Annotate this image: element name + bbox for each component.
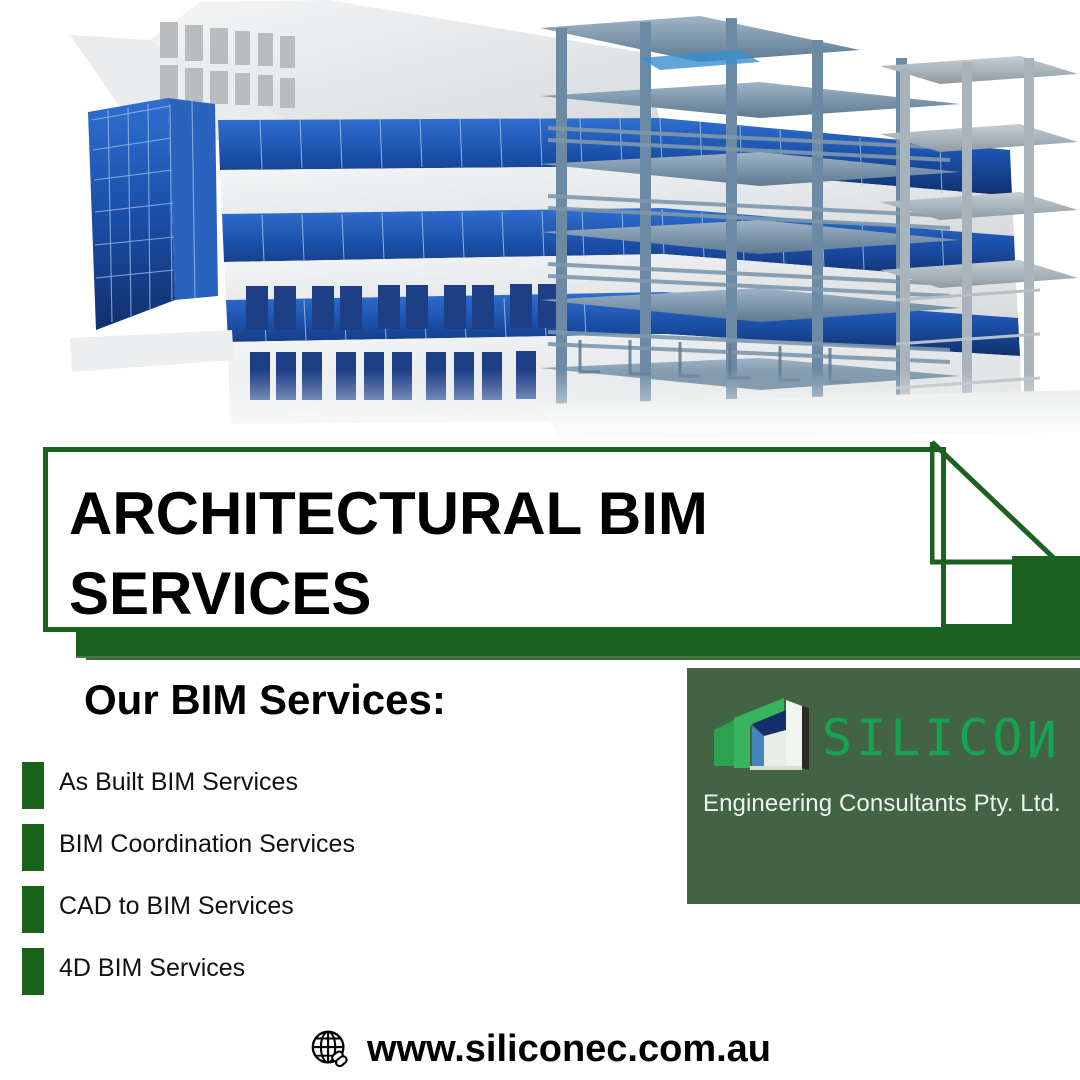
poster: ARCHITECTURAL BIM SERVICES Our BIM Servi… — [0, 0, 1080, 1080]
logo-wordmark-flipped-n: N — [1027, 709, 1061, 767]
silicon-cube-logo-icon — [712, 696, 816, 774]
bullet-square-icon — [22, 762, 44, 809]
bim-building-render-icon — [0, 0, 1080, 452]
globe-link-icon — [309, 1028, 351, 1070]
list-item: CAD to BIM Services — [0, 884, 680, 946]
services-heading: Our BIM Services: — [84, 676, 446, 724]
list-item: As Built BIM Services — [0, 760, 680, 822]
logo-tagline: Engineering Consultants Pty. Ltd. — [703, 790, 1075, 818]
list-item-label: 4D BIM Services — [59, 954, 245, 983]
footer: www.siliconec.com.au — [0, 1018, 1080, 1080]
page-title: ARCHITECTURAL BIM SERVICES — [69, 474, 909, 634]
website-url[interactable]: www.siliconec.com.au — [367, 1028, 771, 1071]
logo-panel: SILICON Engineering Consultants Pty. Ltd… — [687, 668, 1080, 904]
logo-wordmark-text: SILICO — [822, 709, 1027, 767]
bullet-square-icon — [22, 824, 44, 871]
list-item: BIM Coordination Services — [0, 822, 680, 884]
list-item-label: As Built BIM Services — [59, 768, 298, 797]
folded-corner-icon — [930, 440, 1062, 568]
logo-wordmark: SILICON — [822, 709, 1061, 767]
bullet-square-icon — [22, 886, 44, 933]
title-banner: ARCHITECTURAL BIM SERVICES — [0, 440, 1080, 665]
list-item: 4D BIM Services — [0, 946, 680, 1008]
services-list: As Built BIM Services BIM Coordination S… — [0, 760, 680, 1008]
list-item-label: BIM Coordination Services — [59, 830, 355, 859]
hero-bim-render — [0, 0, 1080, 452]
logo-lockup: SILICON — [712, 696, 1062, 774]
bullet-square-icon — [22, 948, 44, 995]
list-item-label: CAD to BIM Services — [59, 892, 294, 921]
